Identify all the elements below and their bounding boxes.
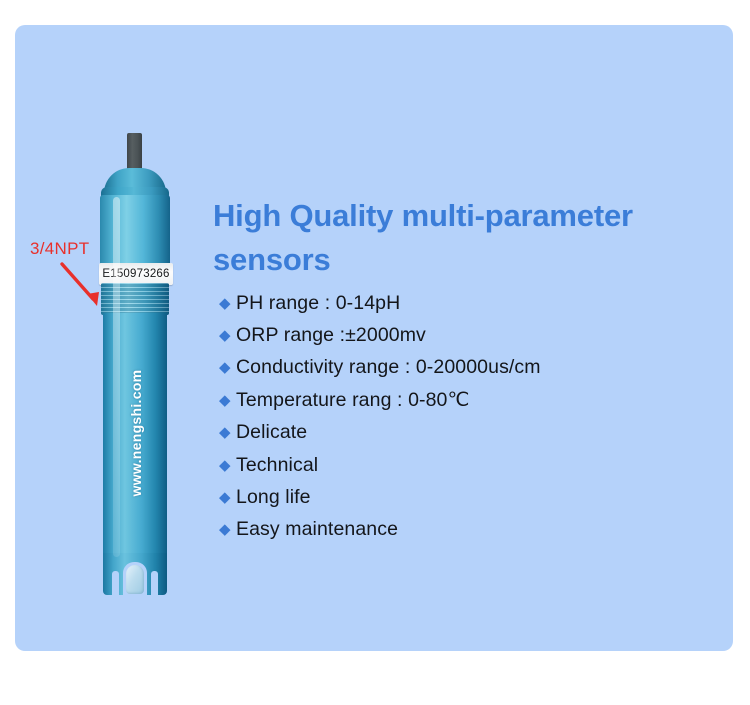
- diamond-bullet-icon: ◆: [219, 360, 236, 375]
- diamond-bullet-icon: ◆: [219, 425, 236, 440]
- page-title: High Quality multi-parameter sensors: [213, 194, 713, 282]
- list-item: ◆ Temperature rang : 0-80℃: [219, 384, 719, 416]
- diamond-bullet-icon: ◆: [219, 458, 236, 473]
- list-item-label: Temperature rang : 0-80℃: [236, 388, 470, 412]
- list-item-label: Long life: [236, 486, 311, 509]
- sensor-serial-number: E150973266: [102, 268, 169, 280]
- product-banner-panel: E150973266 www.nengshi.com 3/4NPT High Q…: [15, 25, 733, 651]
- sensor-glass-bulb: [126, 565, 144, 594]
- product-image-sensor-probe: E150973266 www.nengshi.com: [85, 125, 205, 605]
- list-item: ◆ PH range : 0-14pH: [219, 287, 719, 319]
- sensor-guard-slot-left: [112, 571, 119, 595]
- down-right-arrow-icon: [59, 261, 107, 309]
- list-item: ◆ ORP range :±2000mv: [219, 319, 719, 351]
- list-item: ◆ Conductivity range : 0-20000us/cm: [219, 352, 719, 384]
- list-item-label: Technical: [236, 454, 318, 477]
- sensor-website-print: www.nengshi.com: [128, 353, 144, 513]
- list-item-label: PH range : 0-14pH: [236, 292, 400, 315]
- sensor-main-body: www.nengshi.com: [103, 313, 167, 563]
- list-item-label: Conductivity range : 0-20000us/cm: [236, 356, 541, 379]
- list-item-label: ORP range :±2000mv: [236, 324, 426, 347]
- list-item: ◆ Delicate: [219, 417, 719, 449]
- diamond-bullet-icon: ◆: [219, 393, 236, 408]
- diamond-bullet-icon: ◆: [219, 522, 236, 537]
- diamond-bullet-icon: ◆: [219, 296, 236, 311]
- list-item-label: Easy maintenance: [236, 518, 398, 541]
- list-item: ◆ Easy maintenance: [219, 514, 719, 546]
- sensor-serial-label: E150973266: [99, 263, 173, 285]
- list-item: ◆ Technical: [219, 449, 719, 481]
- list-item: ◆ Long life: [219, 481, 719, 513]
- sensor-npt-thread: [101, 283, 169, 315]
- npt-annotation-label: 3/4NPT: [30, 239, 89, 259]
- list-item-label: Delicate: [236, 421, 307, 444]
- diamond-bullet-icon: ◆: [219, 490, 236, 505]
- sensor-guard-slot-right: [151, 571, 158, 595]
- diamond-bullet-icon: ◆: [219, 328, 236, 343]
- feature-list: ◆ PH range : 0-14pH ◆ ORP range :±2000mv…: [219, 287, 719, 546]
